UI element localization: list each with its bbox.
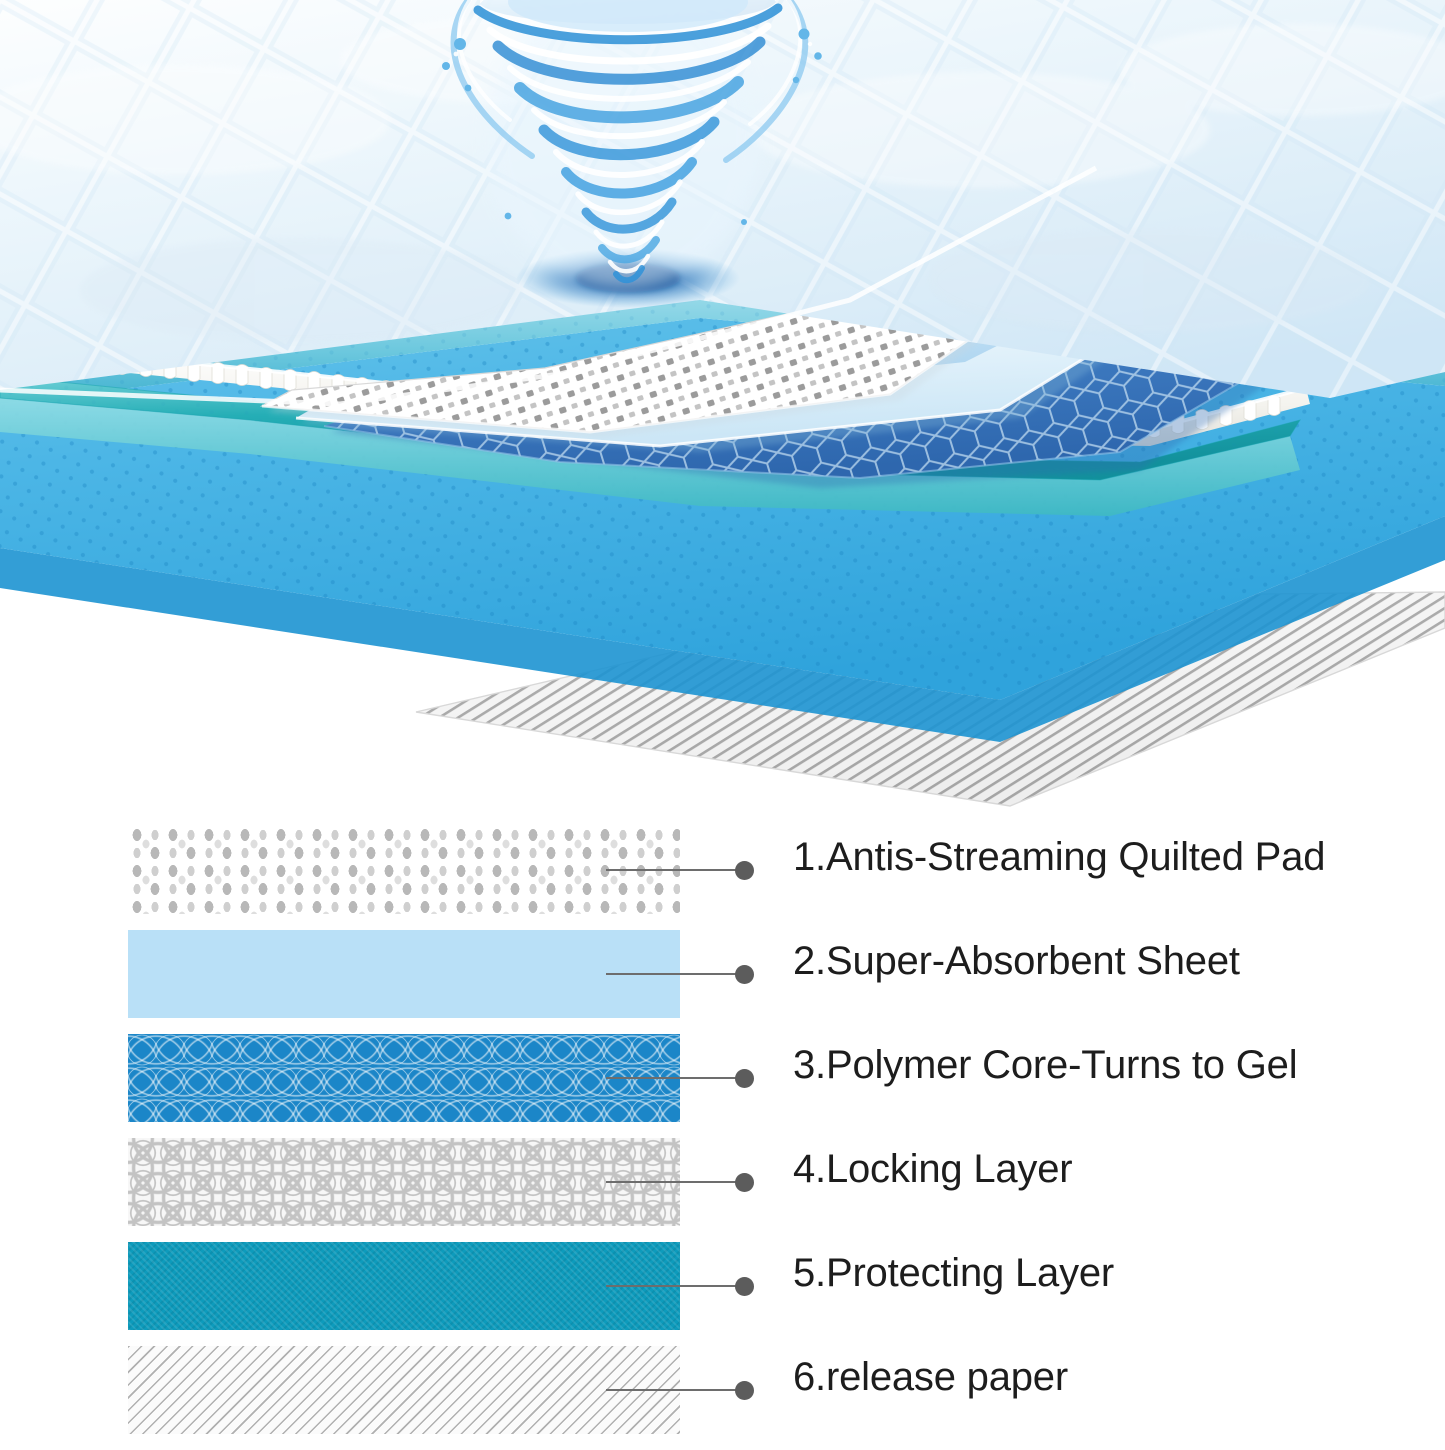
legend-label-6: 6.release paper: [793, 1355, 1068, 1400]
leader-dot-6: [735, 1381, 754, 1400]
legend-label-4: 4.Locking Layer: [793, 1147, 1072, 1192]
leader-line-4: [606, 1181, 739, 1183]
leader-dot-5: [735, 1277, 754, 1296]
legend-row-1: 1.Antis-Streaming Quilted Pad: [0, 826, 1445, 930]
legend-row-4: 4.Locking Layer: [0, 1138, 1445, 1242]
leader-dot-3: [735, 1069, 754, 1088]
exploded-layer-illustration: [0, 0, 1445, 820]
legend-label-2: 2.Super-Absorbent Sheet: [793, 939, 1240, 984]
leader-dot-1: [735, 861, 754, 880]
swatch-polymer-core: [128, 1034, 680, 1122]
leader-line-3: [606, 1077, 739, 1079]
product-layer-diagram: 1.Antis-Streaming Quilted Pad 2.Super-Ab…: [0, 0, 1445, 1445]
legend-label-1: 1.Antis-Streaming Quilted Pad: [793, 835, 1325, 880]
leader-line-6: [606, 1389, 739, 1391]
leader-line-2: [606, 973, 739, 975]
swatch-locking-layer: [128, 1138, 680, 1226]
swatch-super-absorbent-sheet: [128, 930, 680, 1018]
leader-line-5: [606, 1285, 739, 1287]
leader-line-1: [606, 869, 739, 871]
legend-label-5: 5.Protecting Layer: [793, 1251, 1114, 1296]
legend-row-2: 2.Super-Absorbent Sheet: [0, 930, 1445, 1034]
legend-label-3: 3.Polymer Core-Turns to Gel: [793, 1043, 1297, 1088]
leader-dot-4: [735, 1173, 754, 1192]
legend-row-6: 6.release paper: [0, 1346, 1445, 1450]
swatch-release-paper: [128, 1346, 680, 1434]
swatch-antis-streaming-quilted-pad: [128, 826, 680, 914]
layer-legend: 1.Antis-Streaming Quilted Pad 2.Super-Ab…: [0, 818, 1445, 1445]
legend-row-3: 3.Polymer Core-Turns to Gel: [0, 1034, 1445, 1138]
legend-row-5: 5.Protecting Layer: [0, 1242, 1445, 1346]
leader-dot-2: [735, 965, 754, 984]
swatch-protecting-layer: [128, 1242, 680, 1330]
